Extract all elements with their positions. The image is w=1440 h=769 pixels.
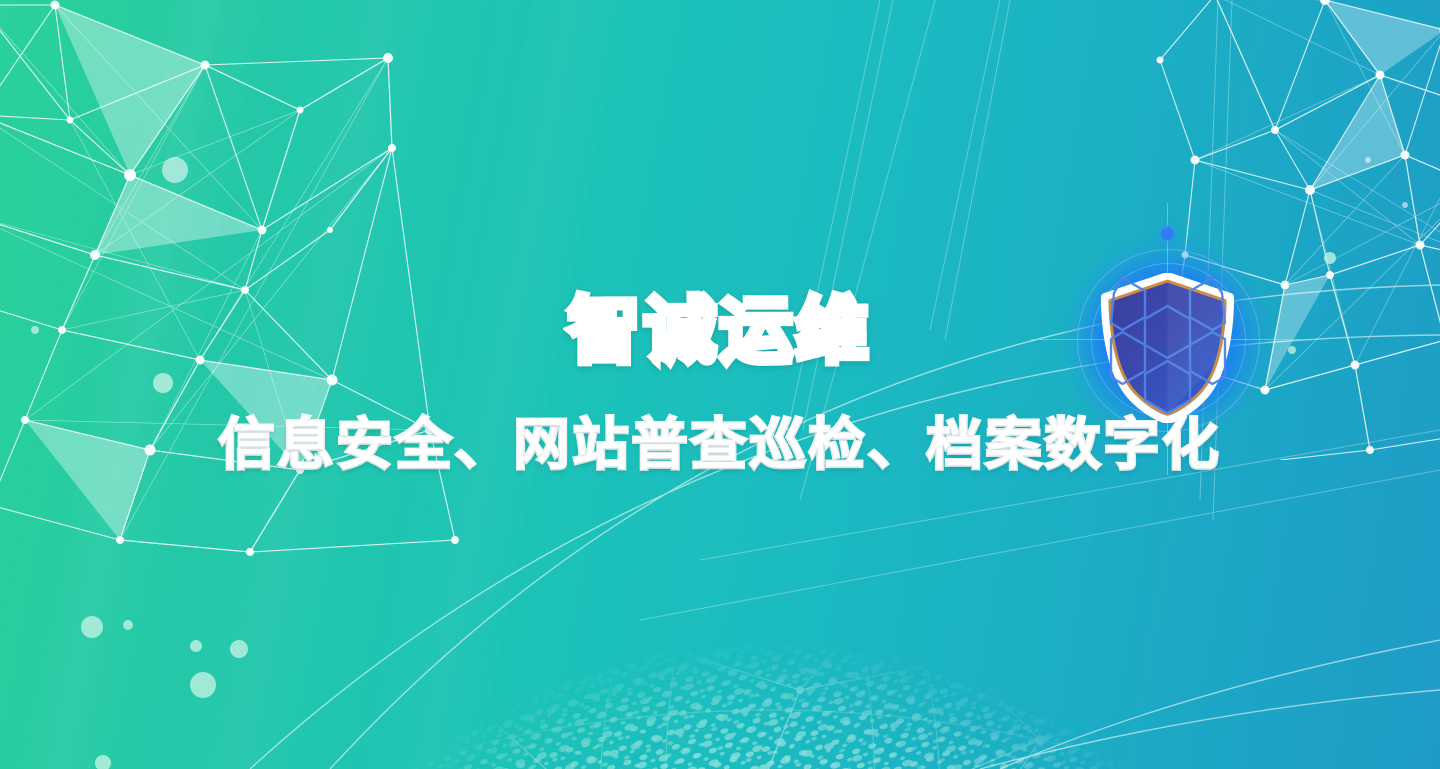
page-title: 智诚运维 (568, 296, 872, 368)
page-subtitle: 信息安全、网站普查巡检、档案数字化 (219, 417, 1222, 473)
title-block: 智诚运维 (0, 296, 1440, 368)
hero-banner: 智诚运维 信息安全、网站普查巡检、档案数字化 (0, 0, 1440, 769)
shield-top-dot (1161, 227, 1174, 240)
subtitle-block: 信息安全、网站普查巡检、档案数字化 (0, 417, 1440, 473)
polygon-network-top-left (0, 0, 620, 560)
